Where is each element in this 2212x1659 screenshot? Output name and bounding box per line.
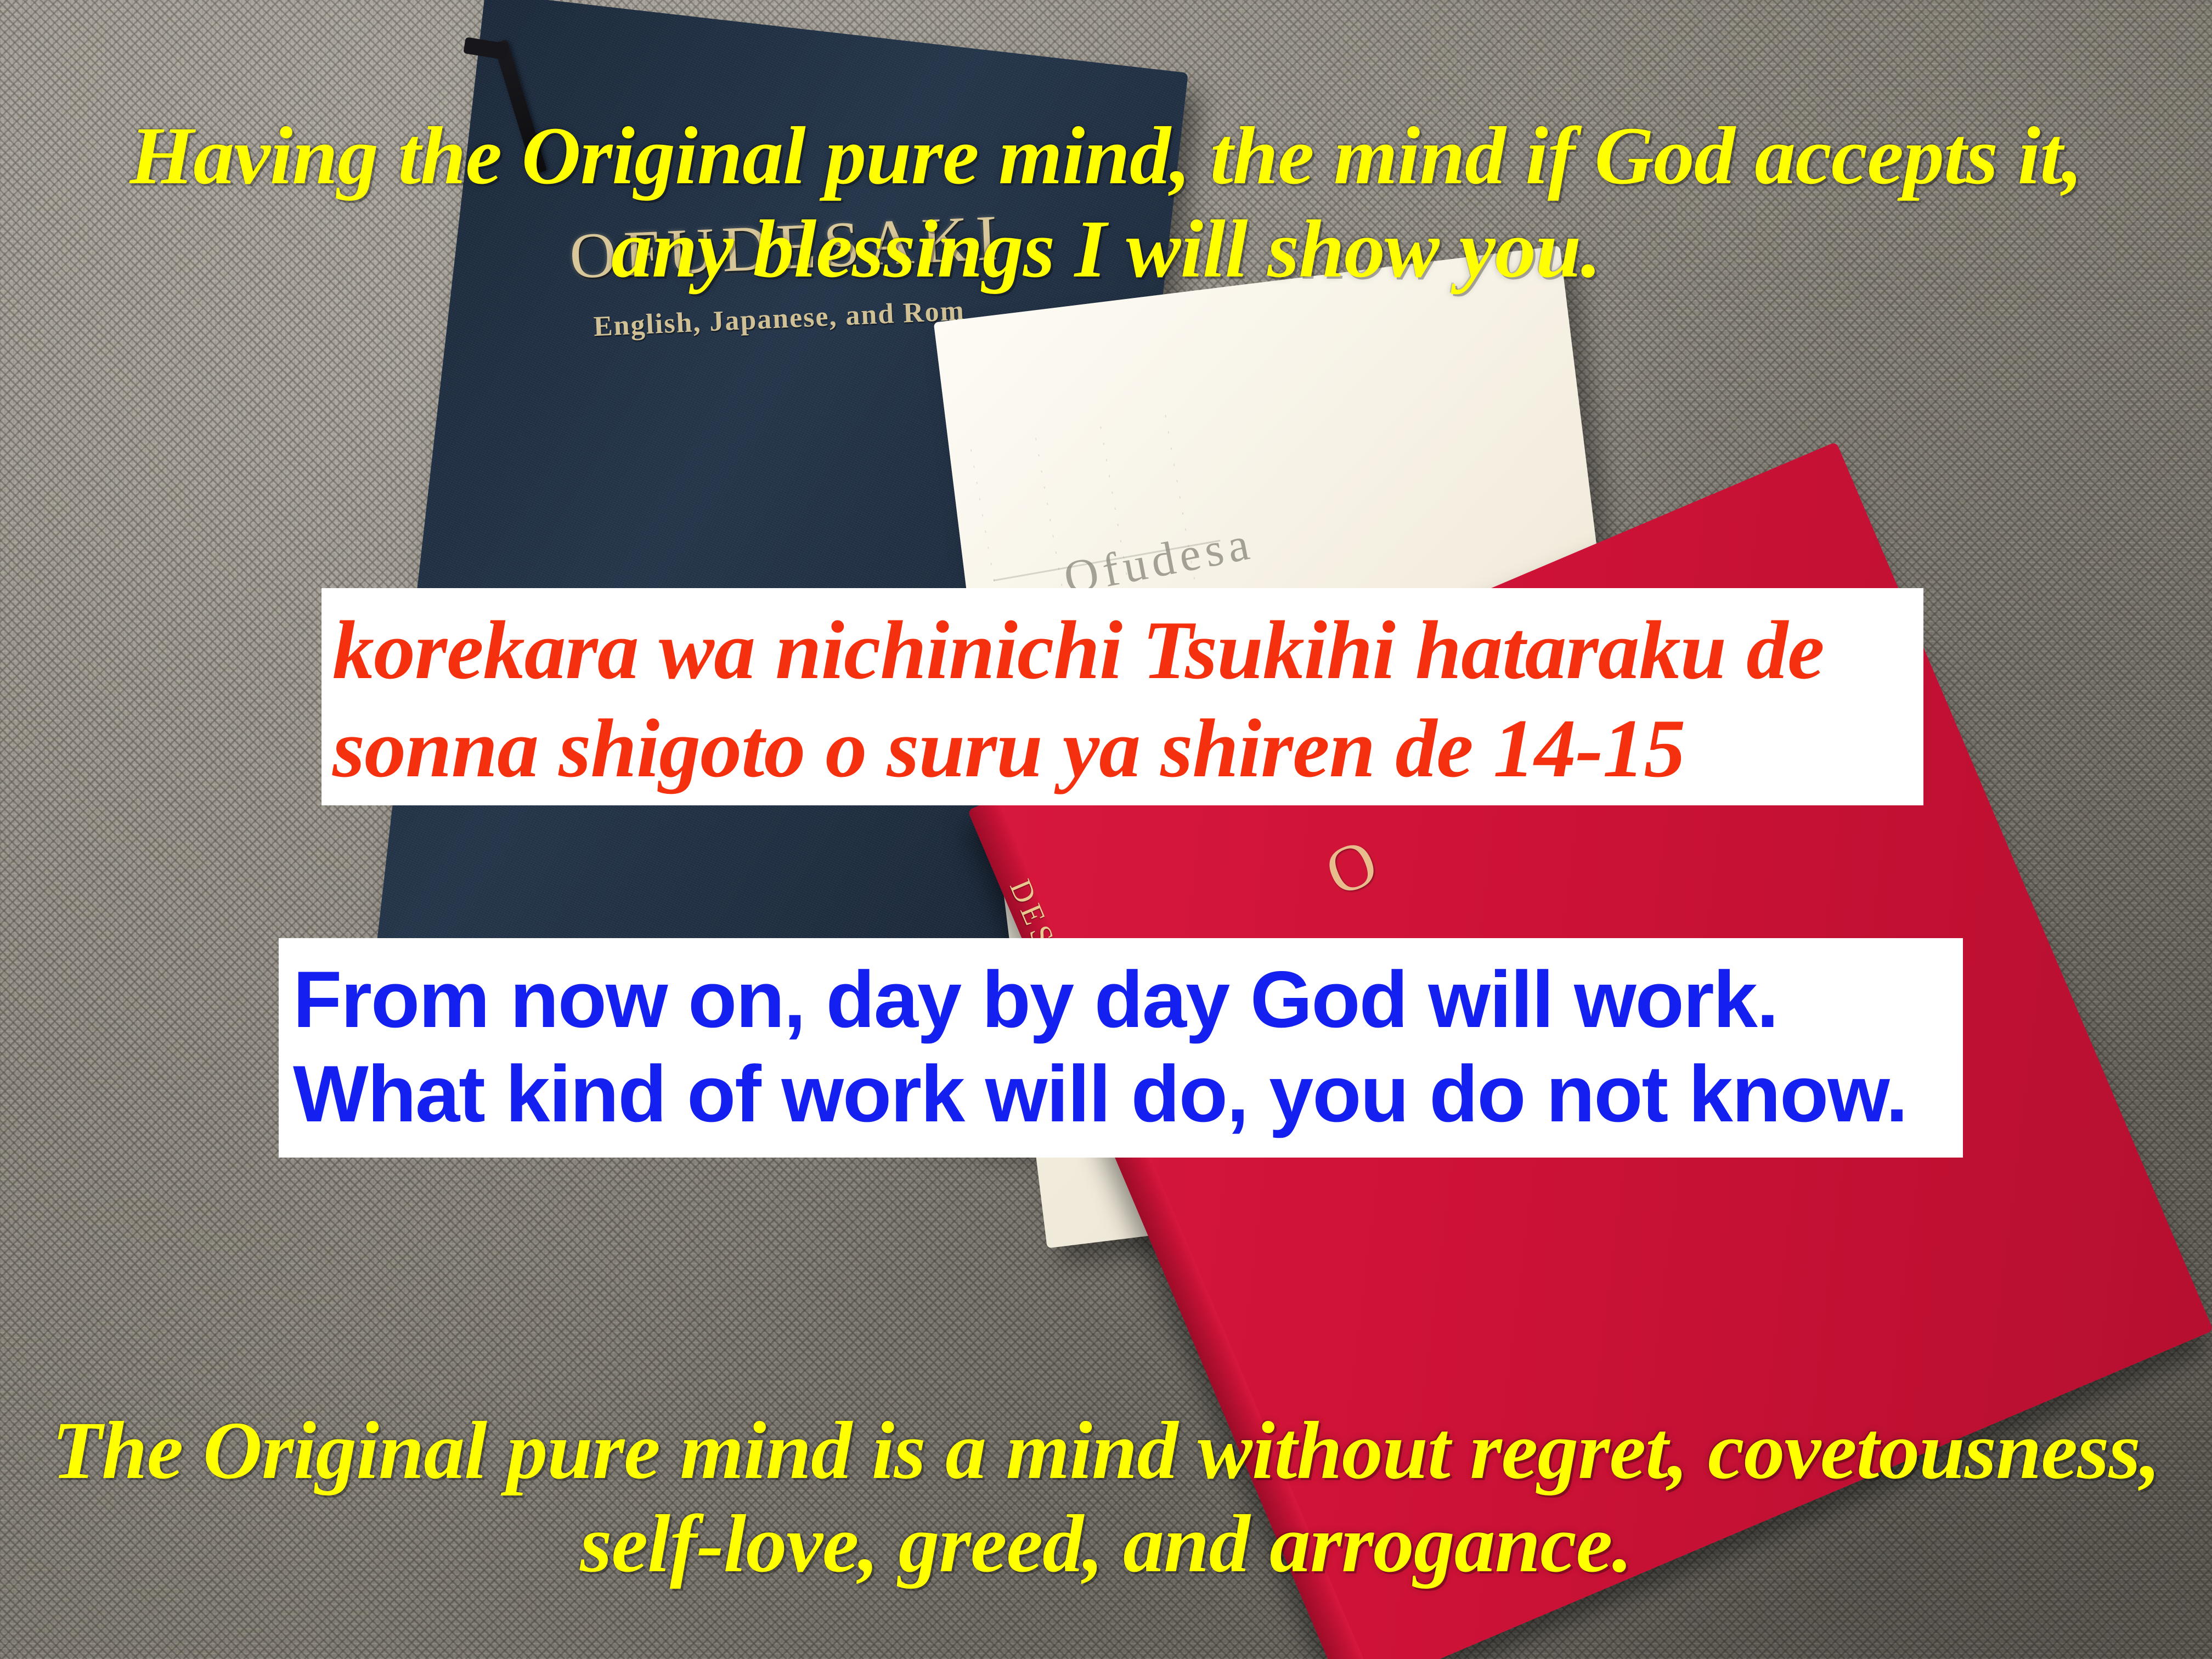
romaji-line-2: sonna shigoto o suru ya shiren de 14-15 [321, 699, 1923, 798]
romaji-line-1: korekara wa nichinichi Tsukihi hataraku … [321, 601, 1923, 699]
english-text-box: From now on, day by day God will work. W… [279, 938, 1963, 1158]
caption-bottom: The Original pure mind is a mind without… [0, 1404, 2212, 1590]
caption-top: Having the Original pure mind, the mind … [0, 110, 2212, 296]
caption-bottom-line-2: self-love, greed, and arrogance. [0, 1498, 2212, 1591]
romaji-text-box: korekara wa nichinichi Tsukihi hataraku … [321, 588, 1923, 805]
caption-bottom-line-1: The Original pure mind is a mind without… [0, 1404, 2212, 1498]
english-line-1: From now on, day by day God will work. [279, 952, 1963, 1047]
red-cover-foil-mark: O [1314, 821, 1393, 912]
slide-canvas: OFUDESAKI English, Japanese, and Rom Ofu… [0, 0, 2212, 1659]
caption-top-line-2: any blessings I will show you. [0, 203, 2212, 296]
english-line-2: What kind of work will do, you do not kn… [279, 1047, 1963, 1141]
caption-top-line-1: Having the Original pure mind, the mind … [0, 110, 2212, 203]
